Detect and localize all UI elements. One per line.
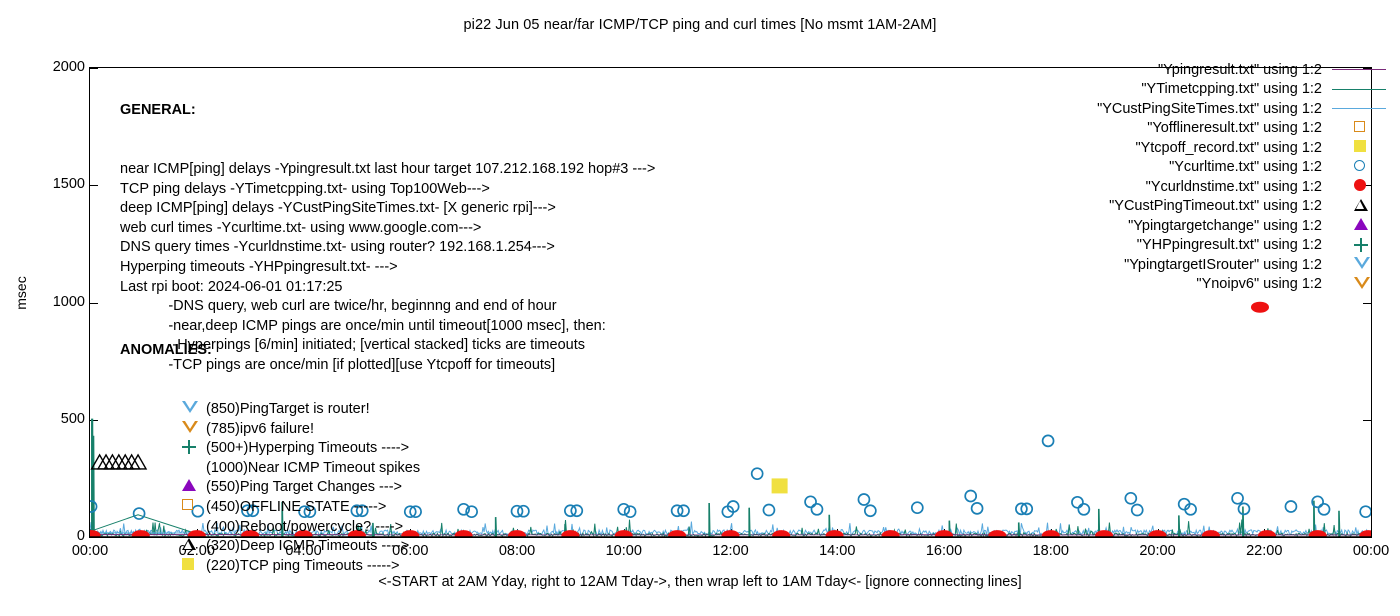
chart-root: pi22 Jun 05 near/far ICMP/TCP ping and c… bbox=[0, 0, 1400, 600]
anomaly-symbol bbox=[182, 460, 202, 478]
x-tick-label: 08:00 bbox=[482, 543, 552, 559]
datapoint-circle-open bbox=[1078, 504, 1089, 515]
y-tick-label: 500 bbox=[25, 411, 85, 427]
legend-key bbox=[1328, 216, 1390, 235]
legend-symbol-swatch bbox=[1354, 238, 1368, 252]
x-axis-caption: <-START at 2AM Yday, right to 12AM Tday-… bbox=[0, 574, 1400, 590]
legend-row[interactable]: "Ycurldnstime.txt" using 1:2 bbox=[990, 177, 1390, 197]
y-tick-label: 2000 bbox=[25, 59, 85, 75]
legend-label: "Ycurltime.txt" using 1:2 bbox=[1169, 159, 1322, 175]
legend-key bbox=[1328, 99, 1390, 118]
general-heading: GENERAL: bbox=[120, 101, 655, 121]
series-YTimetcpping-startspike2 bbox=[93, 436, 94, 537]
anomaly-rows: (850)PingTarget is router!(785)ipv6 fail… bbox=[206, 400, 420, 576]
datapoint-circle-open bbox=[763, 505, 774, 516]
datapoint-circle-filled bbox=[772, 530, 790, 537]
anomaly-label: (450)OFFLINE STATE -----> bbox=[206, 498, 386, 518]
series-YTimetcpping-spike bbox=[1339, 511, 1340, 537]
legend-label: "Ypingresult.txt" using 1:2 bbox=[1158, 62, 1322, 78]
legend-label: "Yofflineresult.txt" using 1:2 bbox=[1147, 120, 1322, 136]
anomaly-symbol bbox=[182, 499, 202, 517]
datapoint-circle-open bbox=[811, 504, 822, 515]
anomaly-symbol bbox=[182, 479, 202, 497]
legend-key bbox=[1328, 80, 1390, 99]
legend-key bbox=[1328, 138, 1390, 157]
legend-row[interactable]: "Ynoipv6" using 1:2 bbox=[990, 275, 1390, 295]
series-YTimetcpping-spike bbox=[749, 508, 750, 537]
x-tick-label: 10:00 bbox=[589, 543, 659, 559]
legend-symbol-swatch bbox=[1354, 199, 1368, 211]
legend-row[interactable]: "YTimetcpping.txt" using 1:2 bbox=[990, 80, 1390, 100]
legend-row[interactable]: "YCustPingSiteTimes.txt" using 1:2 bbox=[990, 99, 1390, 119]
legend-symbol-swatch bbox=[1354, 277, 1370, 289]
datapoint-circle-filled bbox=[988, 530, 1006, 537]
x-tick-label: 18:00 bbox=[1016, 543, 1086, 559]
plus-icon bbox=[1354, 238, 1368, 252]
legend-key bbox=[1328, 255, 1390, 274]
anomaly-symbol bbox=[182, 440, 202, 458]
legend-label: "YTimetcpping.txt" using 1:2 bbox=[1141, 81, 1322, 97]
legend: "Ypingresult.txt" using 1:2"YTimetcpping… bbox=[990, 60, 1390, 294]
triangle-down-gold-icon bbox=[182, 421, 198, 433]
anomaly-symbol bbox=[182, 401, 202, 419]
datapoint-circle-filled bbox=[90, 530, 101, 537]
datapoint-circle-open bbox=[752, 468, 763, 479]
general-note-line: Last rpi boot: 2024-06-01 01:17:25 bbox=[120, 278, 655, 298]
chart-title: pi22 Jun 05 near/far ICMP/TCP ping and c… bbox=[0, 17, 1400, 33]
x-tick-label: 20:00 bbox=[1123, 543, 1193, 559]
datapoint-circle-open bbox=[1072, 497, 1083, 508]
y-tick-label: 1000 bbox=[25, 294, 85, 310]
legend-key bbox=[1328, 158, 1390, 177]
legend-row[interactable]: "Ypingtargetchange" using 1:2 bbox=[990, 216, 1390, 236]
general-note-line: Hyperping timeouts -YHPpingresult.txt- -… bbox=[120, 258, 655, 278]
datapoint-circle-open bbox=[678, 505, 689, 516]
datapoint-circle-open bbox=[618, 504, 629, 515]
legend-row[interactable]: "YpingtargetISrouter" using 1:2 bbox=[990, 255, 1390, 275]
series-YTimetcpping-spike bbox=[1243, 507, 1244, 537]
anomaly-row: (550)Ping Target Changes ---> bbox=[206, 478, 420, 498]
datapoint-circle-open bbox=[512, 506, 523, 517]
legend-symbol-swatch bbox=[1354, 257, 1370, 269]
legend-label: "Ycurldnstime.txt" using 1:2 bbox=[1146, 179, 1322, 195]
triangle-up-filled-icon bbox=[182, 479, 196, 491]
datapoint-circle-open bbox=[1360, 506, 1371, 517]
datapoint-circle-open bbox=[865, 505, 876, 516]
legend-row[interactable]: "YCustPingTimeout.txt" using 1:2 bbox=[990, 197, 1390, 217]
legend-label: "Ypingtargetchange" using 1:2 bbox=[1128, 218, 1322, 234]
legend-row[interactable]: "Ytcpoff_record.txt" using 1:2 bbox=[990, 138, 1390, 158]
triangle-up-filled-icon bbox=[1354, 218, 1368, 230]
anomaly-row: (450)OFFLINE STATE -----> bbox=[206, 498, 420, 518]
square-open-icon bbox=[182, 499, 193, 510]
datapoint-square-filled bbox=[772, 478, 788, 493]
anomaly-symbol bbox=[182, 421, 202, 439]
general-note-line: near ICMP[ping] delays -Ypingresult.txt … bbox=[120, 160, 655, 180]
legend-label: "Ytcpoff_record.txt" using 1:2 bbox=[1135, 140, 1322, 156]
legend-line-swatch bbox=[1332, 108, 1386, 109]
anomaly-symbol bbox=[182, 519, 202, 537]
series-YTimetcpping-spike bbox=[709, 503, 710, 537]
anomaly-row: (785)ipv6 failure! bbox=[206, 420, 420, 440]
legend-label: "YHPpingresult.txt" using 1:2 bbox=[1137, 237, 1322, 253]
legend-key bbox=[1328, 177, 1390, 196]
anomaly-label: (500+)Hyperping Timeouts ----> bbox=[206, 439, 409, 459]
general-note-line: web curl times -Ycurltime.txt- using www… bbox=[120, 219, 655, 239]
anomaly-row: (320)Deep ICMP Timeouts ----> bbox=[206, 537, 420, 557]
legend-key bbox=[1328, 119, 1390, 138]
datapoint-circle-open bbox=[571, 505, 582, 516]
y-tick-label: 1500 bbox=[25, 176, 85, 192]
datapoint-circle-open bbox=[625, 506, 636, 517]
anomaly-label: (400)Reboot/powercycle? ----> bbox=[206, 518, 403, 538]
x-tick-label: 12:00 bbox=[696, 543, 766, 559]
y-tick-label: 0 bbox=[25, 528, 85, 544]
anomaly-label: (550)Ping Target Changes ---> bbox=[206, 478, 402, 498]
triangle-down-gold-icon bbox=[1354, 277, 1370, 289]
anomaly-label: (850)PingTarget is router! bbox=[206, 400, 370, 420]
legend-symbol-swatch bbox=[1354, 160, 1365, 171]
datapoint-circle-open bbox=[1232, 493, 1243, 504]
anomaly-row: (850)PingTarget is router! bbox=[206, 400, 420, 420]
anomaly-row: (400)Reboot/powercycle? ----> bbox=[206, 518, 420, 538]
legend-label: "YpingtargetISrouter" using 1:2 bbox=[1124, 257, 1322, 273]
legend-symbol-swatch bbox=[1354, 121, 1365, 132]
x-tick-label: 00:00 bbox=[1336, 543, 1400, 559]
triangle-up-open-icon bbox=[182, 538, 196, 550]
anomalies-block: ANOMALIES: (850)PingTarget is router!(78… bbox=[120, 302, 420, 616]
square-filled-icon bbox=[182, 558, 194, 570]
datapoint-circle-open bbox=[1125, 493, 1136, 504]
anomaly-label: (785)ipv6 failure! bbox=[206, 420, 314, 440]
square-filled-icon bbox=[1354, 140, 1366, 152]
datapoint-circle-open bbox=[965, 490, 976, 501]
legend-row[interactable]: "Yofflineresult.txt" using 1:2 bbox=[990, 119, 1390, 139]
datapoint-circle-open bbox=[672, 505, 683, 516]
legend-label: "YCustPingSiteTimes.txt" using 1:2 bbox=[1097, 101, 1322, 117]
anomaly-symbol bbox=[182, 538, 202, 556]
datapoint-circle-open bbox=[1238, 503, 1249, 514]
legend-key bbox=[1328, 275, 1390, 294]
datapoint-circle-open bbox=[565, 505, 576, 516]
legend-line-swatch bbox=[1332, 89, 1386, 90]
anomaly-row: (1000)Near ICMP Timeout spikes bbox=[206, 459, 420, 479]
triangle-down-open-icon bbox=[182, 401, 198, 413]
legend-label: "Ynoipv6" using 1:2 bbox=[1196, 276, 1322, 292]
series-YTimetcpping-spike bbox=[1019, 522, 1020, 537]
datapoint-circle-open bbox=[1285, 501, 1296, 512]
legend-symbol-swatch bbox=[1354, 218, 1368, 230]
datapoint-circle-open bbox=[858, 494, 869, 505]
legend-symbol-swatch bbox=[1354, 179, 1366, 191]
series-YTimetcpping-spike bbox=[496, 517, 497, 537]
x-tick-label: 22:00 bbox=[1229, 543, 1299, 559]
x-tick-label: 00:00 bbox=[55, 543, 125, 559]
legend-line-swatch bbox=[1332, 69, 1386, 70]
legend-key bbox=[1328, 236, 1390, 255]
legend-row[interactable]: "YHPpingresult.txt" using 1:2 bbox=[990, 236, 1390, 256]
datapoint-circle-open bbox=[518, 506, 529, 517]
datapoint-circle-open bbox=[1319, 504, 1330, 515]
general-note-line: DNS query times -Ycurldnstime.txt- using… bbox=[120, 238, 655, 258]
circle-open-icon bbox=[1354, 160, 1365, 171]
datapoint-circle-open bbox=[805, 496, 816, 507]
datapoint-circle-open bbox=[912, 502, 923, 513]
datapoint-circle-filled bbox=[1251, 302, 1269, 313]
datapoint-circle-open bbox=[1043, 435, 1054, 446]
x-tick-label: 14:00 bbox=[802, 543, 872, 559]
legend-symbol-swatch bbox=[1354, 140, 1366, 152]
legend-key bbox=[1328, 60, 1390, 79]
legend-row[interactable]: "Ypingresult.txt" using 1:2 bbox=[990, 60, 1390, 80]
anomaly-label: (320)Deep ICMP Timeouts ----> bbox=[206, 537, 409, 557]
x-tick-label: 16:00 bbox=[909, 543, 979, 559]
general-note-line: TCP ping delays -YTimetcpping.txt- using… bbox=[120, 180, 655, 200]
datapoint-circle-filled bbox=[508, 530, 526, 537]
anomalies-heading: ANOMALIES: bbox=[120, 341, 420, 361]
datapoint-circle-filled bbox=[1359, 530, 1371, 537]
anomaly-label: (1000)Near ICMP Timeout spikes bbox=[206, 459, 420, 479]
legend-row[interactable]: "Ycurltime.txt" using 1:2 bbox=[990, 158, 1390, 178]
triangle-down-open-icon bbox=[1354, 257, 1370, 269]
triangle-up-open-icon bbox=[1354, 199, 1368, 211]
anomaly-row: (500+)Hyperping Timeouts ----> bbox=[206, 439, 420, 459]
series-YTimetcpping-spike bbox=[1179, 515, 1180, 537]
datapoint-circle-open bbox=[1132, 505, 1143, 516]
square-open-icon bbox=[1354, 121, 1365, 132]
legend-key bbox=[1328, 197, 1390, 216]
legend-label: "YCustPingTimeout.txt" using 1:2 bbox=[1109, 198, 1322, 214]
plus-icon bbox=[182, 440, 196, 454]
general-note-line: deep ICMP[ping] delays -YCustPingSiteTim… bbox=[120, 199, 655, 219]
circle-filled-icon bbox=[1354, 179, 1366, 191]
datapoint-circle-open bbox=[972, 503, 983, 514]
